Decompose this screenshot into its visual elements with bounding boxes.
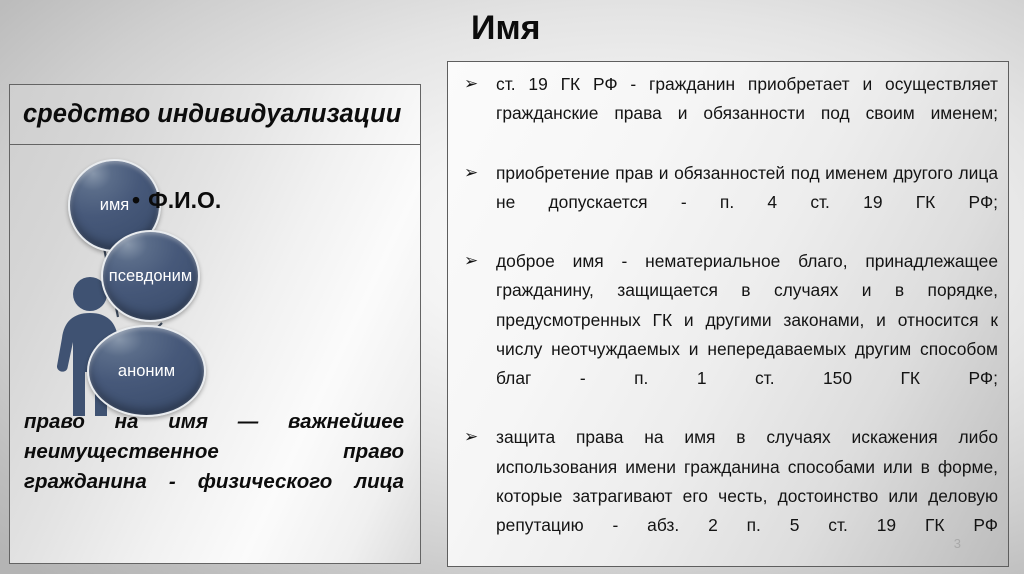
list-item-text: защита права на имя в случаях искажения … bbox=[496, 423, 998, 567]
arrow-bullet-icon: ➢ bbox=[464, 422, 478, 451]
right-content-panel: ➢ ст. 19 ГК РФ - гражданин приобретает и… bbox=[447, 61, 1009, 567]
fio-item: •Ф.И.О. bbox=[132, 187, 221, 214]
bullet-dot-icon: • bbox=[132, 187, 140, 213]
fio-label: Ф.И.О. bbox=[148, 187, 221, 213]
list-item: ➢ доброе имя - нематериальное благо, при… bbox=[456, 247, 998, 422]
list-item-text: доброе имя - нематериальное благо, прина… bbox=[496, 247, 998, 422]
arrow-bullet-icon: ➢ bbox=[464, 246, 478, 275]
slide-number: 3 bbox=[954, 536, 961, 551]
list-item: ➢ ст. 19 ГК РФ - гражданин приобретает и… bbox=[456, 70, 998, 158]
left-panel-footer-text: право на имя — важнейшее неимущественное… bbox=[24, 410, 404, 523]
node-imya-label: имя bbox=[92, 195, 138, 216]
node-anonim-label: аноним bbox=[110, 361, 183, 382]
left-panel-footer: право на имя — важнейшее неимущественное… bbox=[10, 407, 420, 527]
list-item: ➢ защита права на имя в случаях искажени… bbox=[456, 423, 998, 567]
left-panel-body: имя псевдоним аноним •Ф.И.О. право на им… bbox=[10, 145, 420, 563]
node-anonim[interactable]: аноним bbox=[87, 325, 206, 417]
list-item: ➢ приобретение прав и обязанностей под и… bbox=[456, 159, 998, 247]
bullet-list: ➢ ст. 19 ГК РФ - гражданин приобретает и… bbox=[456, 70, 998, 567]
left-panel-header: средство индивидуализации bbox=[10, 85, 420, 145]
left-panel-header-label: средство индивидуализации bbox=[23, 100, 401, 129]
arrow-bullet-icon: ➢ bbox=[464, 69, 478, 98]
arrow-bullet-icon: ➢ bbox=[464, 158, 478, 187]
list-item-text: приобретение прав и обязанностей под име… bbox=[496, 159, 998, 247]
title-bar: Имя bbox=[447, 4, 1009, 54]
left-diagram-panel: средство индивидуализации имя псевдоним bbox=[9, 84, 421, 564]
list-item-text: ст. 19 ГК РФ - гражданин приобретает и о… bbox=[496, 70, 998, 158]
node-pseudonim-label: псевдоним bbox=[101, 266, 200, 287]
page-title: Имя bbox=[471, 8, 540, 48]
slide: Имя средство индивидуализации имя bbox=[0, 0, 1024, 574]
node-pseudonim[interactable]: псевдоним bbox=[101, 230, 200, 322]
